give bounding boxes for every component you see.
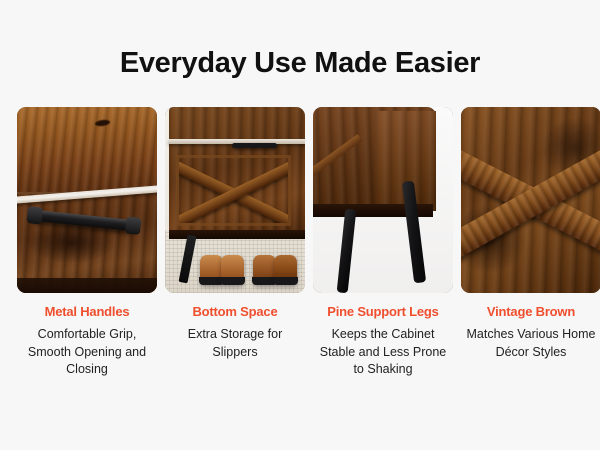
metal-handle-closeup-photo xyxy=(17,107,157,293)
lower-shadow-edge xyxy=(17,278,157,293)
feature-heading: Metal Handles xyxy=(45,304,130,319)
shoe-item xyxy=(274,255,297,285)
feature-card-vintage-brown: Vintage Brown Matches Various Home Décor… xyxy=(461,107,600,379)
barn-door-x-panel xyxy=(176,155,291,226)
feature-description: Keeps the Cabinet Stable and Less Prone … xyxy=(313,326,453,379)
feature-card-metal-handles: Metal Handles Comfortable Grip, Smooth O… xyxy=(17,107,157,379)
feature-description: Extra Storage for Slippers xyxy=(165,326,305,362)
feature-heading: Pine Support Legs xyxy=(327,304,438,319)
page-title: Everyday Use Made Easier xyxy=(120,48,480,80)
bottom-space-with-shoes-photo xyxy=(165,107,305,293)
feature-card-pine-support-legs: Pine Support Legs Keeps the Cabinet Stab… xyxy=(313,107,453,379)
feature-description: Matches Various Home Décor Styles xyxy=(461,326,600,362)
wood-top-surface xyxy=(17,107,157,193)
feature-card-bottom-space: Bottom Space Extra Storage for Slippers xyxy=(165,107,305,379)
vintage-brown-wood-grain-photo xyxy=(461,107,600,293)
feature-panel-row: Metal Handles Comfortable Grip, Smooth O… xyxy=(17,107,583,379)
wood-dark-blotch xyxy=(28,222,115,263)
feature-description: Comfortable Grip, Smooth Opening and Clo… xyxy=(17,326,157,379)
feature-heading: Vintage Brown xyxy=(487,304,575,319)
product-feature-infographic: Everyday Use Made Easier Metal Handles C… xyxy=(0,0,600,450)
shoe-item xyxy=(221,255,244,285)
pine-support-legs-photo xyxy=(313,107,453,293)
feature-heading: Bottom Space xyxy=(192,304,277,319)
black-bar-handle xyxy=(232,143,277,148)
